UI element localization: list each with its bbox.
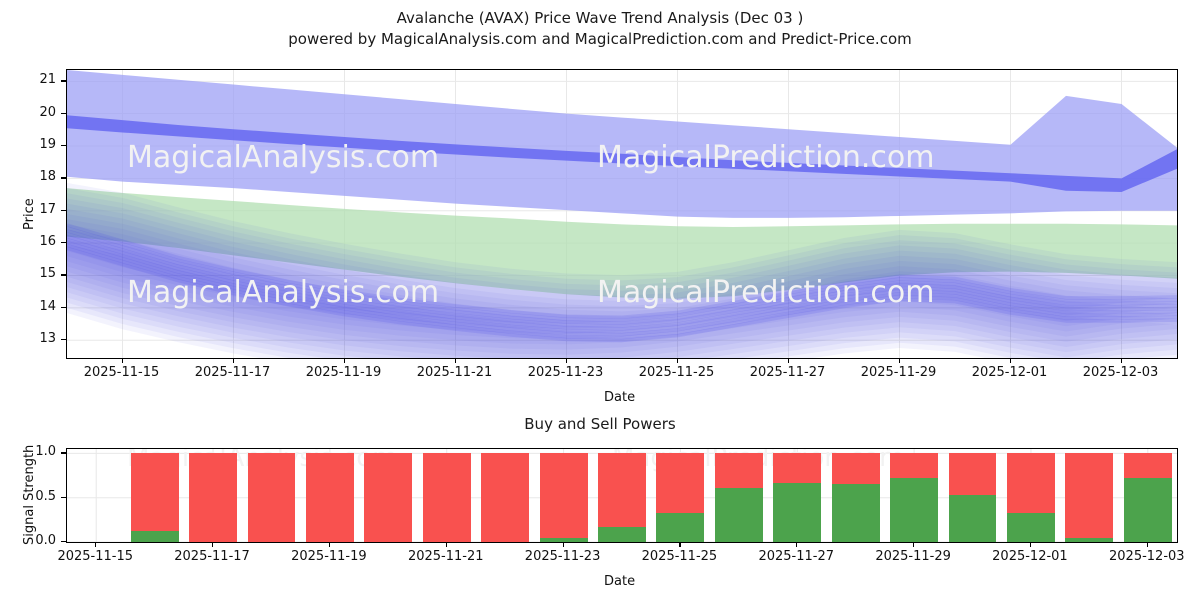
signal-x-tick (563, 542, 564, 547)
buy-power-segment (1065, 538, 1113, 542)
sell-power-segment (1124, 453, 1172, 478)
sell-power-segment (1065, 453, 1113, 538)
price-y-tick-label: 16 (22, 234, 56, 249)
signal-bar[interactable] (773, 453, 821, 542)
signal-x-tick-label: 2025-11-19 (274, 549, 384, 564)
price-y-tick-label: 13 (22, 331, 56, 346)
buy-power-segment (715, 488, 763, 542)
price-wave-canvas (67, 70, 1177, 358)
price-y-tick-label: 19 (22, 137, 56, 152)
signal-bar[interactable] (364, 453, 412, 542)
signal-bar[interactable] (131, 453, 179, 542)
signal-bar[interactable] (248, 453, 296, 542)
signal-bar[interactable] (423, 453, 471, 542)
buy-power-segment (949, 495, 997, 542)
page-subtitle: powered by MagicalAnalysis.com and Magic… (0, 29, 1200, 50)
signal-x-tick-label: 2025-11-27 (741, 549, 851, 564)
sell-power-segment (248, 453, 296, 542)
sell-power-segment (131, 453, 179, 531)
signal-x-tick-label: 2025-12-03 (1092, 549, 1200, 564)
sell-power-segment (656, 453, 704, 512)
price-x-tick-label: 2025-11-17 (178, 365, 288, 380)
price-y-tick (61, 113, 66, 114)
signal-y-tick (61, 541, 66, 542)
price-y-tick (61, 307, 66, 308)
sell-power-segment (364, 453, 412, 542)
signal-x-tick (679, 542, 680, 547)
price-y-tick-label: 21 (22, 72, 56, 87)
signal-bar[interactable] (715, 453, 763, 542)
price-y-tick-label: 14 (22, 299, 56, 314)
sell-power-segment (773, 453, 821, 482)
price-y-axis-title: Price (22, 198, 37, 230)
price-x-tick (566, 358, 567, 363)
sell-power-segment (598, 453, 646, 527)
signal-x-tick-label: 2025-11-29 (858, 549, 968, 564)
price-wave-plot-area: MagicalAnalysis.com MagicalPrediction.co… (66, 69, 1178, 359)
signal-bar[interactable] (481, 453, 529, 542)
buy-power-segment (131, 531, 179, 542)
price-x-tick-label: 2025-11-19 (289, 365, 399, 380)
buy-power-segment (890, 478, 938, 542)
price-x-tick-label: 2025-11-29 (844, 365, 954, 380)
price-x-tick-label: 2025-11-27 (733, 365, 843, 380)
price-x-tick-label: 2025-11-25 (622, 365, 732, 380)
price-x-tick (344, 358, 345, 363)
buy-sell-chart: MagicalAnalysis.com MagicalPrediction.co… (66, 448, 1178, 543)
price-x-tick (122, 358, 123, 363)
buy-power-segment (773, 483, 821, 542)
price-y-tick (61, 339, 66, 340)
signal-bar[interactable] (656, 453, 704, 542)
price-y-tick-label: 15 (22, 266, 56, 281)
sell-power-segment (715, 453, 763, 488)
price-x-tick (1010, 358, 1011, 363)
signal-x-tick-label: 2025-11-21 (391, 549, 501, 564)
price-y-tick (61, 242, 66, 243)
sell-power-segment (306, 453, 354, 542)
sell-power-segment (890, 453, 938, 478)
sell-power-segment (540, 453, 588, 538)
price-x-tick (677, 358, 678, 363)
signal-x-tick (1147, 542, 1148, 547)
buy-power-segment (598, 527, 646, 542)
buy-sell-plot-area: MagicalAnalysis.com MagicalPrediction.co… (66, 448, 1178, 543)
price-y-tick (61, 177, 66, 178)
buy-power-segment (656, 513, 704, 542)
signal-bar[interactable] (189, 453, 237, 542)
signal-bar[interactable] (832, 453, 880, 542)
signal-x-axis-title: Date (604, 574, 635, 589)
price-wave-chart: MagicalAnalysis.com MagicalPrediction.co… (66, 69, 1178, 359)
price-x-axis-title: Date (604, 390, 635, 405)
price-x-tick (1121, 358, 1122, 363)
price-y-tick (61, 80, 66, 81)
signal-x-tick-label: 2025-11-17 (157, 549, 267, 564)
sell-power-segment (481, 453, 529, 542)
signal-bar[interactable] (540, 453, 588, 542)
buy-power-segment (832, 484, 880, 542)
signal-x-tick-label: 2025-11-25 (624, 549, 734, 564)
buy-power-segment (1124, 478, 1172, 542)
sell-power-segment (1007, 453, 1055, 512)
sell-power-segment (949, 453, 997, 495)
signal-bar[interactable] (949, 453, 997, 542)
signal-x-tick (913, 542, 914, 547)
signal-bar[interactable] (1124, 453, 1172, 542)
sell-power-segment (189, 453, 237, 542)
price-x-tick (899, 358, 900, 363)
price-x-tick-label: 2025-11-15 (67, 365, 177, 380)
sell-power-segment (423, 453, 471, 542)
price-x-tick (788, 358, 789, 363)
signal-x-tick (1030, 542, 1031, 547)
chart-title-block: Avalanche (AVAX) Price Wave Trend Analys… (0, 8, 1200, 50)
price-x-tick (233, 358, 234, 363)
sell-power-segment (832, 453, 880, 483)
buy-sell-title: Buy and Sell Powers (0, 415, 1200, 433)
signal-bar[interactable] (598, 453, 646, 542)
signal-y-tick (61, 497, 66, 498)
signal-x-tick (95, 542, 96, 547)
price-y-tick (61, 274, 66, 275)
price-x-tick-label: 2025-11-21 (400, 365, 510, 380)
signal-bar[interactable] (306, 453, 354, 542)
signal-bar[interactable] (890, 453, 938, 542)
price-y-tick (61, 210, 66, 211)
signal-y-axis-title: Signal Strength (22, 445, 37, 545)
signal-x-tick (446, 542, 447, 547)
page-title: Avalanche (AVAX) Price Wave Trend Analys… (0, 8, 1200, 29)
signal-y-tick (61, 452, 66, 453)
price-x-tick (455, 358, 456, 363)
price-x-tick-label: 2025-12-03 (1066, 365, 1176, 380)
signal-x-tick (329, 542, 330, 547)
signal-x-tick (212, 542, 213, 547)
price-x-tick-label: 2025-12-01 (955, 365, 1065, 380)
signal-x-tick-label: 2025-11-15 (40, 549, 150, 564)
signal-bar[interactable] (1007, 453, 1055, 542)
signal-x-tick-label: 2025-12-01 (975, 549, 1085, 564)
buy-power-segment (1007, 513, 1055, 542)
price-x-tick-label: 2025-11-23 (511, 365, 621, 380)
signal-x-tick (796, 542, 797, 547)
price-y-tick-label: 18 (22, 169, 56, 184)
price-y-tick (61, 145, 66, 146)
signal-x-tick-label: 2025-11-23 (508, 549, 618, 564)
signal-bar[interactable] (1065, 453, 1113, 542)
price-y-tick-label: 20 (22, 105, 56, 120)
